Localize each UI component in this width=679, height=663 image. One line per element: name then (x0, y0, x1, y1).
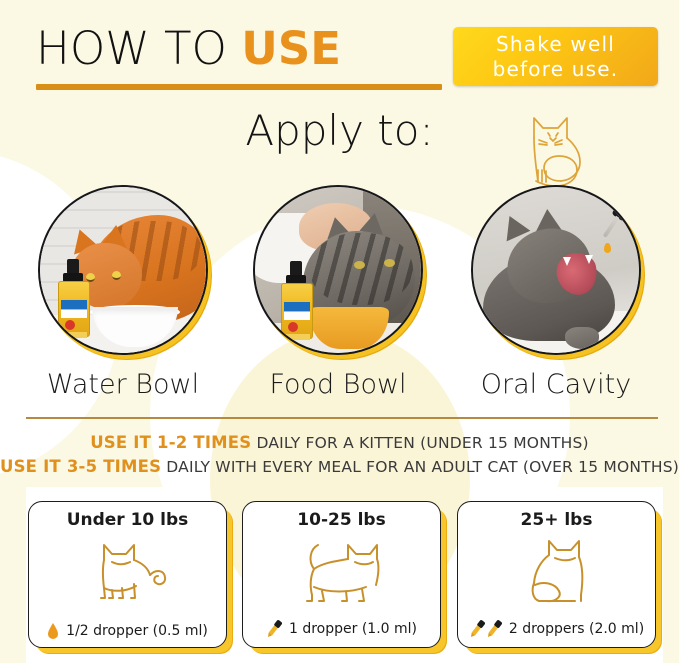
dosage-card-10-25[interactable]: 10-25 lbs (242, 501, 441, 648)
cat-standing-icon (29, 533, 226, 611)
dosage-cards: Under 10 lbs (0, 501, 679, 653)
header: HOW TO USE Shake well before use. (0, 0, 679, 100)
dosage-weight-under-10: Under 10 lbs (29, 510, 226, 530)
usage-line-kitten-rest: DAILY FOR A KITTEN (UNDER 15 MONTHS) (251, 434, 588, 452)
dropper-icon (266, 618, 282, 640)
page-title-accent: USE (241, 22, 341, 75)
shake-well-badge: Shake well before use. (453, 27, 658, 86)
photo-food-bowl (253, 185, 423, 355)
photo-water-bowl (38, 185, 208, 355)
dropper-icons-10-25 (266, 618, 282, 640)
dropper-icons-25-plus (469, 618, 502, 640)
cat-walking-icon (243, 533, 440, 611)
dosage-amount-25-plus: 2 droppers (2.0 ml) (507, 621, 644, 637)
droplet-icons-under-10 (47, 622, 59, 640)
dosage-weight-25-plus: 25+ lbs (458, 510, 655, 530)
dosage-card-25-plus[interactable]: 25+ lbs (457, 501, 656, 648)
decorative-sitting-cat-icon (514, 108, 600, 192)
apply-to-circles: Water Bowl Food Bowl (0, 185, 679, 400)
dropper-icon (469, 618, 485, 640)
page-title: HOW TO USE (36, 22, 341, 75)
photo-oral-cavity (471, 185, 641, 355)
cat-sitting-icon (458, 533, 655, 611)
apply-label-food-bowl: Food Bowl (248, 369, 428, 400)
dosage-foot-25-plus: 2 droppers (2.0 ml) (458, 618, 655, 640)
apply-label-oral-cavity: Oral Cavity (466, 369, 646, 400)
shake-well-badge-line1: Shake well (496, 32, 615, 57)
dosage-amount-under-10: 1/2 dropper (0.5 ml) (64, 623, 208, 639)
product-bottle-icon (58, 271, 88, 335)
droplet-icon (47, 622, 59, 640)
usage-instructions: USE IT 1-2 TIMES DAILY FOR A KITTEN (UND… (0, 431, 679, 479)
usage-line-kitten-highlight: USE IT 1-2 TIMES (90, 433, 251, 452)
usage-line-kitten: USE IT 1-2 TIMES DAILY FOR A KITTEN (UND… (0, 431, 679, 455)
dosage-foot-under-10: 1/2 dropper (0.5 ml) (29, 622, 226, 640)
apply-item-oral-cavity: Oral Cavity (466, 185, 646, 400)
product-bottle-icon (281, 273, 311, 337)
shake-well-badge-line2: before use. (493, 57, 619, 82)
dosage-amount-10-25: 1 dropper (1.0 ml) (287, 621, 417, 637)
title-underline (36, 84, 442, 90)
how-to-use-infographic: HOW TO USE Shake well before use. Apply … (0, 0, 679, 663)
dosage-card-under-10[interactable]: Under 10 lbs (28, 501, 227, 648)
apply-label-water-bowl: Water Bowl (33, 369, 213, 400)
dosage-weight-10-25: 10-25 lbs (243, 510, 440, 530)
liquid-drop-icon (604, 243, 611, 253)
apply-item-water-bowl: Water Bowl (33, 185, 213, 400)
usage-line-adult-highlight: USE IT 3-5 TIMES (0, 457, 161, 476)
page-title-plain: HOW TO (36, 22, 241, 75)
section-divider (26, 417, 658, 419)
usage-line-adult-rest: DAILY WITH EVERY MEAL FOR AN ADULT CAT (… (161, 458, 679, 476)
dosage-foot-10-25: 1 dropper (1.0 ml) (243, 618, 440, 640)
usage-line-adult: USE IT 3-5 TIMES DAILY WITH EVERY MEAL F… (0, 455, 679, 479)
dropper-icon (486, 618, 502, 640)
apply-item-food-bowl: Food Bowl (248, 185, 428, 400)
